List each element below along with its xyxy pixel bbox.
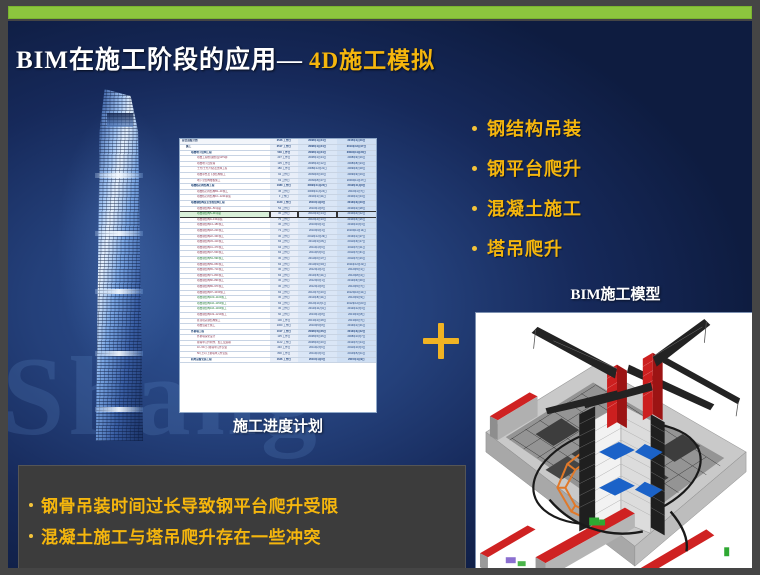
bullet-label: 钢平台爬升 xyxy=(487,155,582,181)
schedule-cell-start: 2010年1月6日 xyxy=(298,357,337,363)
schedule-table: 总合进度计划2546 工作日2008年1月24日2015年1月16日施工2517… xyxy=(180,139,376,363)
tower-illustration xyxy=(86,89,148,441)
tower-band-2 xyxy=(95,231,143,236)
list-item: 钢结构吊装 xyxy=(472,115,732,141)
list-item: 钢平台爬升 xyxy=(472,155,732,181)
note-label: 钢骨吊装时间过长导致钢平台爬升受限 xyxy=(41,492,339,517)
top-accent-bar xyxy=(8,6,752,19)
bullet-dot-icon xyxy=(472,126,477,131)
schedule-cell-name: 机电设备安装工程 xyxy=(180,357,270,363)
tower-band-1 xyxy=(95,173,143,178)
bullet-list: 钢结构吊装 钢平台爬升 混凝土施工 塔吊爬升 xyxy=(472,115,732,275)
schedule-cell-end: 2015年1月9日 xyxy=(337,357,376,363)
title-accent-text: 4D施工模拟 xyxy=(309,48,435,73)
tower-band-3 xyxy=(95,289,143,294)
bim-model-caption: BIM施工模型 xyxy=(473,283,752,304)
note-label: 混凝土施工与塔吊爬升存在一些冲突 xyxy=(41,523,321,548)
bullet-dot-icon xyxy=(472,246,477,251)
plus-icon xyxy=(423,323,459,359)
table-row[interactable]: 机电设备安装工程1646 工作日2010年1月6日2015年1月9日 xyxy=(180,357,376,363)
bullet-dot-icon xyxy=(472,166,477,171)
construction-schedule-table[interactable]: 总合进度计划2546 工作日2008年1月24日2015年1月16日施工2517… xyxy=(179,138,377,413)
bullet-label: 塔吊爬升 xyxy=(487,235,563,261)
bullet-dot-icon xyxy=(472,206,477,211)
tower-facade-grid xyxy=(86,89,148,441)
page-title: BIM在施工阶段的应用—4D施工模拟 xyxy=(16,40,435,76)
bim-model-image[interactable] xyxy=(475,312,752,568)
schedule-table-body: 总合进度计划2546 工作日2008年1月24日2015年1月16日施工2517… xyxy=(180,139,376,363)
list-item: 塔吊爬升 xyxy=(472,235,732,261)
list-item: 混凝土施工 xyxy=(472,195,732,221)
bullet-label: 混凝土施工 xyxy=(487,195,582,221)
slide-frame: Shang BIM在施工阶段的应用—4D施工模拟 总合进度计划2546 工作日2… xyxy=(0,0,760,575)
list-item: 钢骨吊装时间过长导致钢平台爬升受限 xyxy=(29,492,465,517)
list-item: 混凝土施工与塔吊爬升存在一些冲突 xyxy=(29,523,465,548)
title-main-text: BIM在施工阶段的应用— xyxy=(16,47,303,74)
bullet-dot-icon xyxy=(29,503,33,507)
schedule-cell-dur: 1646 工作日 xyxy=(270,357,297,363)
tower-crown xyxy=(107,113,133,127)
bullet-dot-icon xyxy=(29,534,33,538)
building-photo xyxy=(50,85,185,441)
schedule-caption: 施工进度计划 xyxy=(179,415,377,436)
tower-band-5 xyxy=(95,407,143,412)
bim-model-svg xyxy=(476,313,752,568)
slide-canvas: Shang BIM在施工阶段的应用—4D施工模拟 总合进度计划2546 工作日2… xyxy=(8,21,752,568)
bullet-label: 钢结构吊装 xyxy=(487,115,582,141)
tower-band-4 xyxy=(95,351,143,356)
issues-note-box: 钢骨吊装时间过长导致钢平台爬升受限 混凝土施工与塔吊爬升存在一些冲突 xyxy=(18,465,466,568)
